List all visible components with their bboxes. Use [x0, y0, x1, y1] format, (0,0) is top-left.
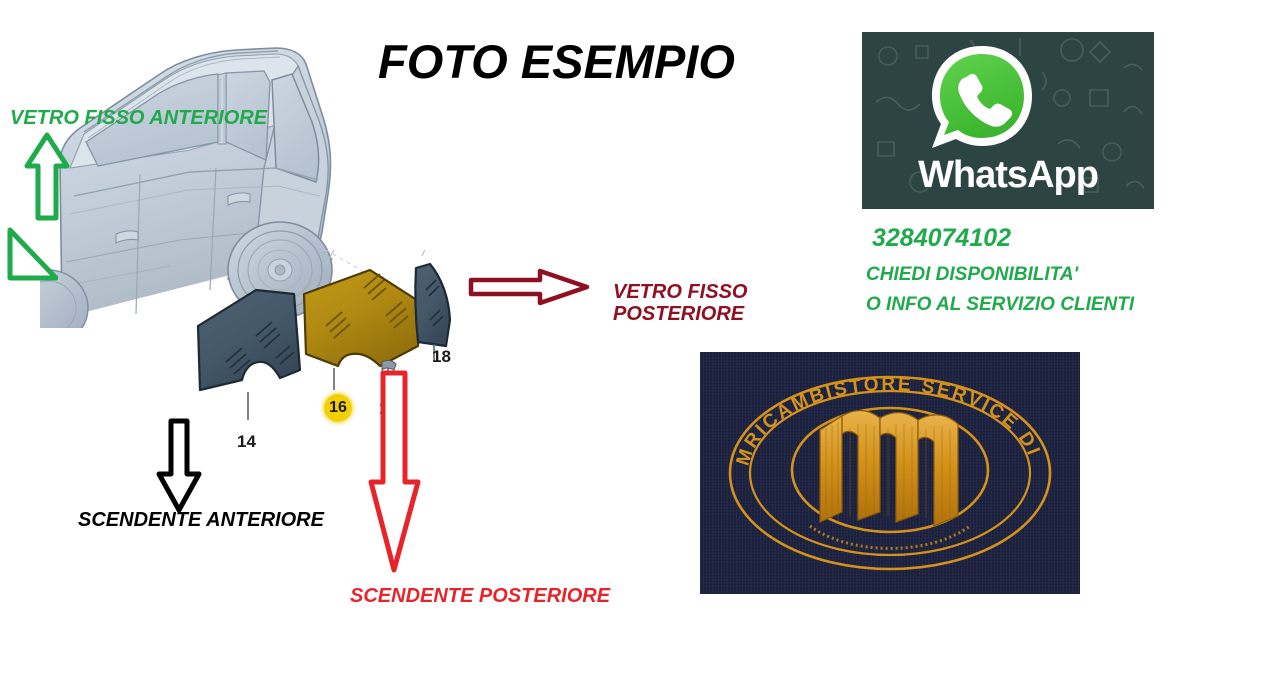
contact-line-2: O INFO AL SERVIZIO CLIENTI — [866, 294, 1134, 315]
red-down-arrow-icon — [366, 370, 422, 576]
part-number-16-badge: 16 — [324, 394, 352, 422]
shop-logo-emblem-icon: MRICAMBISTORE SERVICE DI RUSSO MARCO — [700, 352, 1080, 594]
label-vetro-fisso-anteriore: VETRO FISSO ANTERIORE — [10, 107, 267, 129]
whatsapp-banner: WhatsApp — [862, 32, 1154, 209]
black-down-arrow-icon — [155, 418, 203, 514]
shop-logo-monogram — [820, 410, 958, 526]
green-up-arrow-icon — [24, 132, 70, 222]
darkred-right-arrow-icon — [468, 267, 590, 307]
whatsapp-wordmark: WhatsApp — [862, 154, 1154, 197]
contact-line-1: CHIEDI DISPONIBILITA' — [866, 264, 1078, 285]
screenshot-canvas: 14 16 17 18 FOTO ESEMPIO VETRO FISSO ANT… — [0, 0, 1264, 678]
part-number-14: 14 — [237, 432, 256, 452]
label-scendente-posteriore: SCENDENTE POSTERIORE — [350, 585, 610, 607]
green-diagonal-arrow-icon — [6, 226, 58, 282]
shop-logo-subtext-arc — [810, 526, 970, 548]
shop-logo: MRICAMBISTORE SERVICE DI RUSSO MARCO — [700, 352, 1080, 594]
label-vetro-fisso-posteriore: VETRO FISSOPOSTERIORE — [613, 281, 747, 326]
whatsapp-logo-icon — [924, 42, 1036, 154]
label-scendente-anteriore: SCENDENTE ANTERIORE — [78, 509, 324, 531]
page-title: FOTO ESEMPIO — [378, 36, 735, 89]
part-number-16-label: 16 — [324, 394, 352, 422]
glass-part-14 — [198, 290, 300, 420]
label-vetro-fisso-posteriore-line2: POSTERIORE — [613, 303, 744, 325]
label-vetro-fisso-posteriore-line1: VETRO FISSO — [613, 281, 747, 303]
part-number-18: 18 — [432, 347, 451, 367]
phone-number[interactable]: 3284074102 — [872, 224, 1011, 252]
